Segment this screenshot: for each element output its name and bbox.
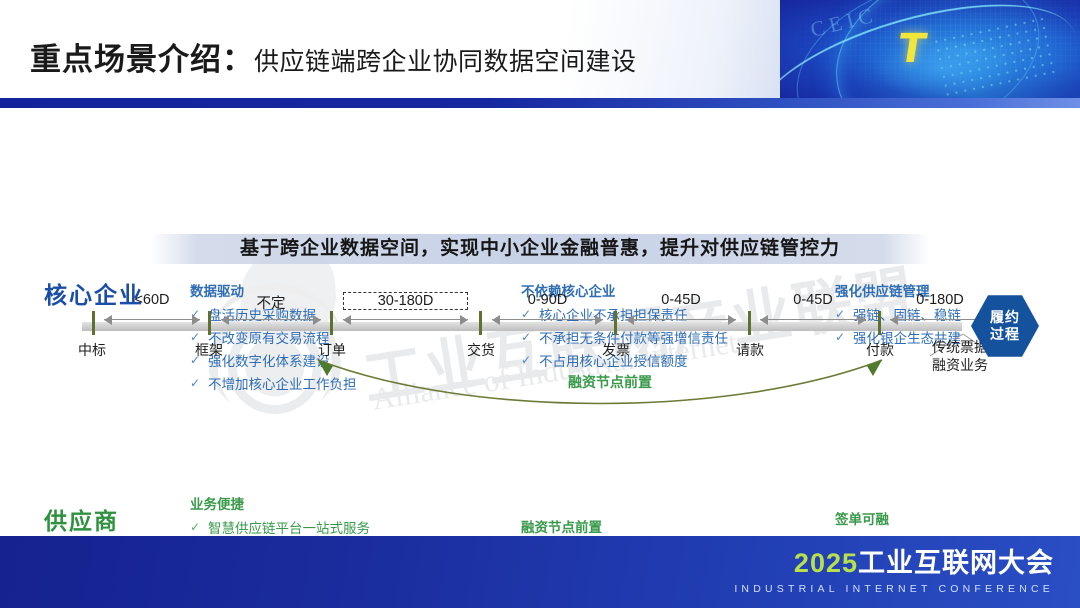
check-icon: ✓ xyxy=(835,328,853,347)
check-icon: ✓ xyxy=(521,351,539,370)
slide-root: CEIC T 重点场景介绍：供应链端跨企业协同数据空间建设 工业互联网产业联盟 … xyxy=(0,0,1080,608)
list-item-label: 核心企业不承担担保责任 xyxy=(539,305,821,327)
bottom-column-1-title: 业务便捷 xyxy=(190,493,490,513)
page-title-sub: 供应链端跨企业协同数据空间建设 xyxy=(254,48,637,76)
conference-logo-year: 2025 xyxy=(794,548,858,578)
check-icon: ✓ xyxy=(521,328,539,347)
check-icon: ✓ xyxy=(190,518,208,537)
list-item: ✓盘活历史采购数据 xyxy=(190,305,490,327)
list-item-label: 不承担无条件付款等强增信责任 xyxy=(539,328,821,350)
slide-footer: 2025工业互联网大会 INDUSTRIAL INTERNET CONFEREN… xyxy=(0,536,1080,608)
bottom-column-3-title: 签单可融 xyxy=(835,508,1065,528)
top-column-1: 数据驱动 ✓盘活历史采购数据 ✓不改变原有交易流程 ✓强化数字化体系建设 ✓不增… xyxy=(190,280,490,396)
conference-logo-en: INDUSTRIAL INTERNET CONFERENCE xyxy=(734,583,1054,595)
check-icon: ✓ xyxy=(835,305,853,324)
check-icon: ✓ xyxy=(190,351,208,370)
list-item-label: 不占用核心企业授信额度 xyxy=(539,351,821,373)
slide-body: 工业互联网产业联盟 Alliance of Industrial Interne… xyxy=(0,108,1080,608)
page-title: 重点场景介绍：供应链端跨企业协同数据空间建设 xyxy=(30,34,637,79)
list-item: ✓强链、固链、稳链 xyxy=(835,305,1065,327)
list-item: ✓核心企业不承担担保责任 xyxy=(521,305,821,327)
role-label-core-enterprise: 核心企业 xyxy=(44,276,144,310)
list-item: ✓强化银企生态共建 xyxy=(835,328,1065,350)
check-icon: ✓ xyxy=(190,328,208,347)
list-item: ✓不增加核心企业工作负担 xyxy=(190,374,490,396)
header-decorative-graphic: CEIC T xyxy=(780,0,1080,98)
top-column-2-list: ✓核心企业不承担担保责任 ✓不承担无条件付款等强增信责任 ✓不占用核心企业授信额… xyxy=(521,305,821,373)
list-item: ✓不占用核心企业授信额度 xyxy=(521,351,821,373)
top-column-3-title: 强化供应链管理 xyxy=(835,280,1065,300)
top-column-1-title: 数据驱动 xyxy=(190,280,490,300)
conference-logo: 2025工业互联网大会 INDUSTRIAL INTERNET CONFEREN… xyxy=(734,550,1054,595)
list-item-label: 不改变原有交易流程 xyxy=(208,328,490,350)
role-label-supplier: 供应商 xyxy=(44,502,119,536)
check-icon: ✓ xyxy=(190,374,208,393)
check-icon: ✓ xyxy=(190,305,208,324)
list-item-label: 强链、固链、稳链 xyxy=(853,305,1065,327)
page-title-main: 重点场景介绍： xyxy=(30,42,254,77)
list-item-label: 不增加核心企业工作负担 xyxy=(208,374,490,396)
list-item-label: 强化银企生态共建 xyxy=(853,328,1065,350)
conference-logo-main: 2025工业互联网大会 xyxy=(734,550,1054,577)
top-column-2-title: 不依赖核心企业 xyxy=(521,280,821,300)
list-item-label: 盘活历史采购数据 xyxy=(208,305,490,327)
slide-header: CEIC T 重点场景介绍：供应链端跨企业协同数据空间建设 xyxy=(0,0,1080,98)
logo-glow xyxy=(870,37,1020,98)
list-item: ✓不承担无条件付款等强增信责任 xyxy=(521,328,821,350)
check-icon: ✓ xyxy=(521,305,539,324)
top-column-3-list: ✓强链、固链、稳链 ✓强化银企生态共建 xyxy=(835,305,1065,350)
subtitle-banner: 基于跨企业数据空间，实现中小企业金融普惠，提升对供应链管控力 xyxy=(150,234,930,264)
top-column-3: 强化供应链管理 ✓强链、固链、稳链 ✓强化银企生态共建 xyxy=(835,280,1065,351)
top-column-2: 不依赖核心企业 ✓核心企业不承担担保责任 ✓不承担无条件付款等强增信责任 ✓不占… xyxy=(521,280,821,374)
list-item-label: 强化数字化体系建设 xyxy=(208,351,490,373)
list-item: ✓强化数字化体系建设 xyxy=(190,351,490,373)
subtitle-banner-text: 基于跨企业数据空间，实现中小企业金融普惠，提升对供应链管控力 xyxy=(150,234,930,264)
header-divider xyxy=(0,98,1080,108)
bottom-column-2-title: 融资节点前置 xyxy=(521,516,811,536)
conference-logo-cn: 工业互联网大会 xyxy=(858,548,1054,578)
list-item: ✓不改变原有交易流程 xyxy=(190,328,490,350)
top-column-1-list: ✓盘活历史采购数据 ✓不改变原有交易流程 ✓强化数字化体系建设 ✓不增加核心企业… xyxy=(190,305,490,395)
